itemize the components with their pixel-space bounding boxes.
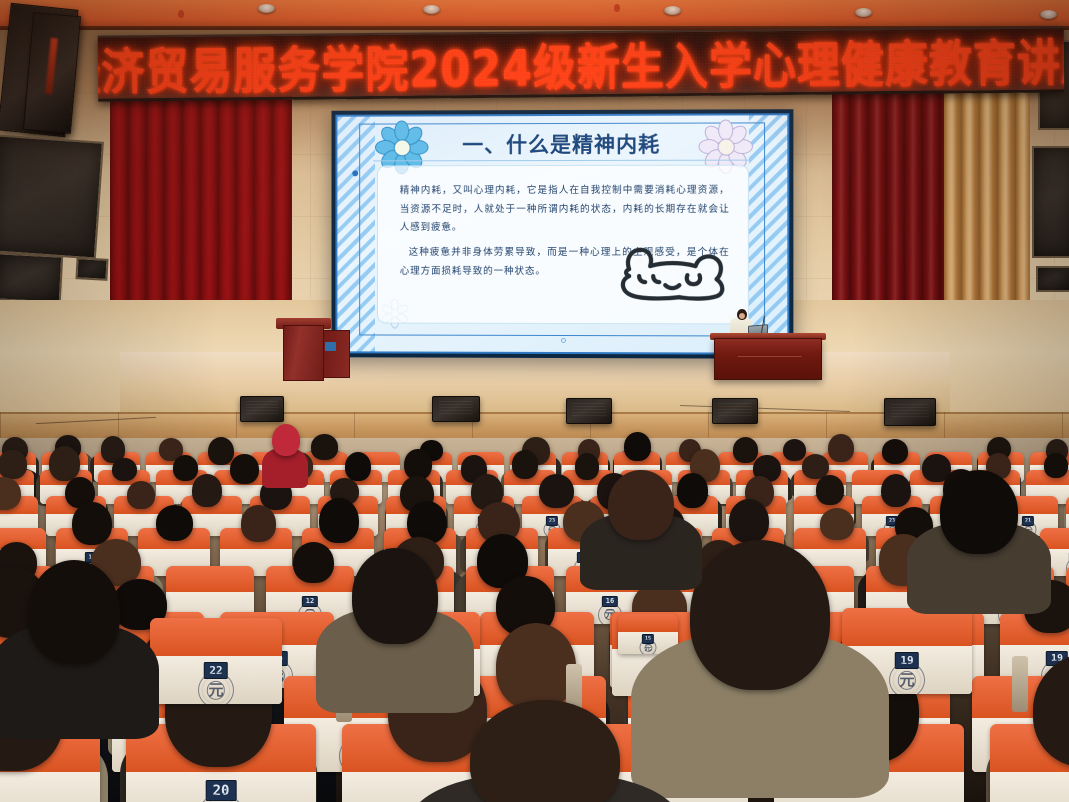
- seat-cushion: [150, 618, 282, 658]
- audience-member-head: [512, 450, 538, 478]
- slide-bottom-dot: [561, 338, 566, 343]
- emblem-glyph: 元: [208, 683, 223, 698]
- audience-member-head: [230, 454, 259, 484]
- audience-member-head: [882, 439, 908, 464]
- audience-member-head: [352, 548, 438, 644]
- slide: 一、什么是精神内耗 精神内耗，又叫心理内耗，它是指人在自我控制中需要消耗心理资源…: [335, 113, 789, 354]
- stage-monitor-speaker: [884, 398, 936, 426]
- audience-member-head: [608, 470, 674, 540]
- audience-member-head: [28, 560, 120, 664]
- audience-member-head: [293, 542, 334, 583]
- audience-member-head: [820, 508, 855, 540]
- audience-member-head: [575, 453, 600, 480]
- audience-member-head: [311, 434, 337, 459]
- audience-member-head: [345, 452, 371, 481]
- slide-paragraph-1: 精神内耗，又叫心理内耗，它是指人在自我控制中需要消耗心理资源，当资源不足时，人就…: [400, 182, 730, 238]
- audience-member-head: [208, 437, 234, 466]
- slide-bullet-dot: [352, 170, 358, 176]
- lecture-hall-photo: 经济贸易服务学院2024级新生入学心理健康教育讲座 一、什么是精神内耗: [0, 0, 1069, 802]
- audience-member-head: [0, 450, 27, 478]
- audience-member-head: [49, 446, 80, 481]
- sprinkler-icon: [178, 10, 184, 18]
- wall-panel: [0, 134, 104, 259]
- seat-cushion: [166, 566, 254, 593]
- audience-member-head: [112, 458, 137, 481]
- ceiling-light-icon: [855, 8, 872, 17]
- stage-monitor-speaker: [432, 396, 480, 422]
- audience-member-head: [496, 623, 576, 710]
- sleeping-bear-doodle-icon: [603, 235, 732, 307]
- audience-member-head: [539, 474, 575, 509]
- stage-monitor-speaker: [712, 398, 758, 424]
- seat-armrest: [1012, 656, 1028, 712]
- emblem-glyph: 元: [899, 673, 914, 688]
- lectern: [283, 325, 324, 381]
- audience-member-head: [72, 502, 112, 545]
- slide-content-card: 精神内耗，又叫心理内耗，它是指人在自我控制中需要消耗心理资源，当资源不足时，人就…: [377, 165, 749, 325]
- seat-back: [0, 772, 100, 802]
- desk-trim: [734, 356, 802, 364]
- ceiling-light-icon: [258, 4, 275, 13]
- audience-member-head: [156, 505, 194, 541]
- wall-panel: [1032, 146, 1069, 258]
- stage-monitor-speaker: [566, 398, 612, 424]
- slide-title: 一、什么是精神内耗: [462, 128, 660, 158]
- headscarf-icon: [272, 424, 300, 456]
- audience-member-head: [241, 505, 276, 542]
- audience-member-head: [1044, 453, 1068, 478]
- projection-screen[interactable]: 一、什么是精神内耗 精神内耗，又叫心理内耗，它是指人在自我控制中需要消耗心理资源…: [332, 109, 794, 359]
- wall-panel: [1036, 266, 1069, 292]
- audience-member-head: [881, 474, 911, 508]
- audience-member-head: [319, 498, 359, 543]
- audience-member-head: [816, 475, 844, 505]
- ceiling-light-icon: [423, 5, 440, 14]
- school-emblem-icon: 元: [889, 662, 925, 694]
- audience-member-head: [733, 437, 758, 463]
- ceiling-light-icon: [664, 6, 681, 15]
- seat-back: [990, 772, 1069, 802]
- audience-member-head: [783, 439, 806, 461]
- presenter-face: [739, 313, 745, 319]
- slide-title-band: 一、什么是精神内耗: [373, 126, 751, 161]
- audience-member-head: [729, 499, 769, 544]
- audience-member-head: [828, 434, 854, 462]
- school-emblem-icon: 元: [640, 639, 657, 654]
- stage-monitor-speaker: [240, 396, 284, 422]
- wall-panel: [75, 257, 108, 281]
- wall-panel: [0, 252, 63, 303]
- sprinkler-icon: [614, 4, 620, 12]
- seat[interactable]: 22元: [150, 618, 282, 704]
- ceiling-light-icon: [1040, 10, 1057, 19]
- audience-member-head: [624, 432, 651, 461]
- school-emblem-icon: 元: [198, 672, 234, 704]
- emblem-glyph: 元: [645, 644, 652, 651]
- audience-member-head: [192, 474, 222, 507]
- audience-member-head: [690, 540, 830, 690]
- seat-cushion: [618, 614, 678, 632]
- led-banner: 经济贸易服务学院2024级新生入学心理健康教育讲座: [98, 26, 1065, 101]
- audience-member-head: [173, 455, 199, 481]
- audience-member-head: [677, 473, 709, 508]
- audience-member-head: [127, 481, 155, 508]
- lectern-badge: [325, 342, 336, 351]
- led-banner-text: 经济贸易服务学院2024级新生入学心理健康教育讲座: [98, 26, 1065, 101]
- audience-member-head: [940, 470, 1018, 554]
